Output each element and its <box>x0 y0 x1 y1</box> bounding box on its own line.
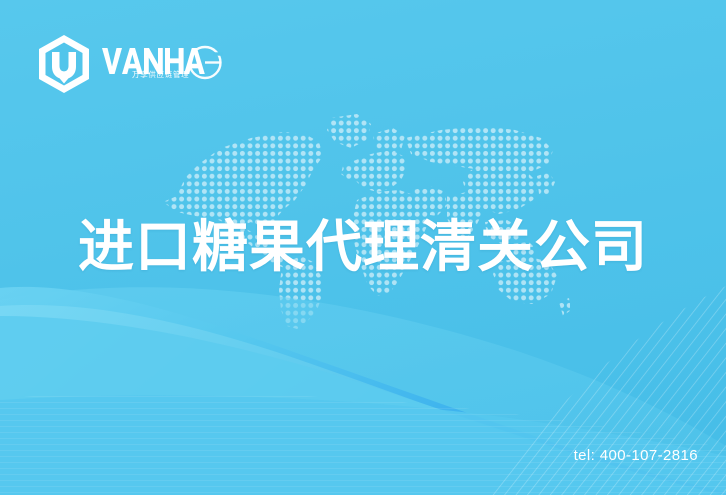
vanhang-hexagon-icon <box>36 34 92 94</box>
promo-banner: 万享供应链管理 进口糖果代理清关公司 tel: 400-107-2816 <box>0 0 726 495</box>
wordmark-subtitle-cn: 万享供应链管理 <box>132 70 189 79</box>
page-title: 进口糖果代理清关公司 <box>0 212 726 282</box>
contact-phone[interactable]: tel: 400-107-2816 <box>574 447 698 465</box>
brand-logo[interactable]: 万享供应链管理 <box>36 34 223 94</box>
vanhang-wordmark: 万享供应链管理 <box>101 42 223 86</box>
g-circle-glyph <box>190 47 224 78</box>
